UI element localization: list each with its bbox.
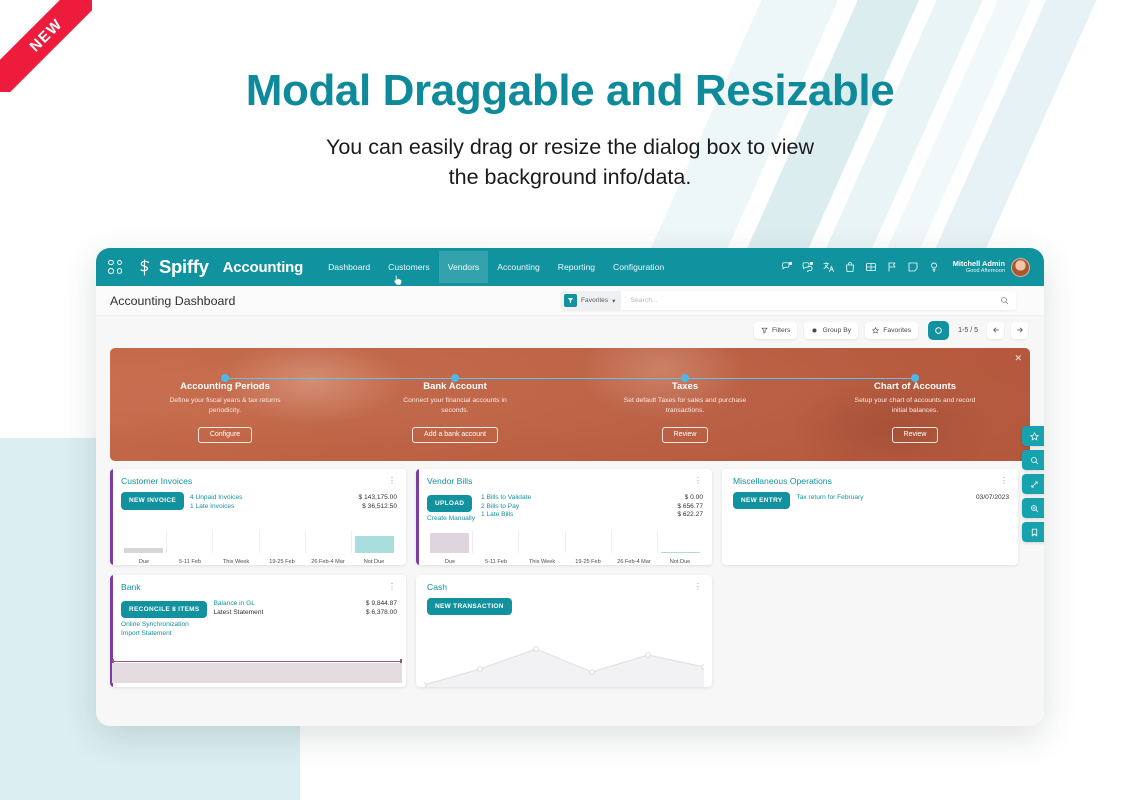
menu-item-reporting[interactable]: Reporting [549, 251, 604, 283]
stat-value: $ 6,378.00 [366, 609, 397, 616]
card-header: Bank ⋮ [110, 575, 406, 592]
main-menu: Dashboard Customers Vendors Accounting R… [319, 251, 673, 283]
menu-item-vendors[interactable]: Vendors [439, 251, 489, 283]
stat-row: 1 Bills to Validate $ 0.00 [481, 494, 703, 501]
brand[interactable]: Spiffy [135, 256, 209, 278]
arrow-left-icon [992, 326, 1000, 334]
create-manually-link[interactable]: Create Manually [427, 515, 475, 522]
app-name: Accounting [223, 259, 304, 276]
step-description: Define your fiscal years & tax returns p… [160, 396, 290, 415]
pager-label: 1-5 / 5 [958, 327, 978, 334]
card-vendor-bills: Vendor Bills ⋮ UPLOAD Create Manually 1 … [416, 469, 712, 565]
customer-invoices-chart: Due 5-11 Feb This Week 19-25 Feb 26 Feb-… [121, 531, 397, 565]
card-menu-button[interactable]: ⋮ [694, 583, 703, 591]
x-label: This Week [213, 559, 259, 565]
card-title: Cash [427, 582, 447, 592]
upload-button[interactable]: UPLOAD [427, 495, 472, 512]
card-bank: Bank ⋮ RECONCILE 8 ITEMS Online Synchron… [110, 575, 406, 687]
x-label: 26 Feb-4 Mar [305, 559, 351, 565]
user-greeting: Good Afternoon [953, 268, 1005, 274]
stat-value: $ 622.27 [677, 511, 703, 518]
x-label: Not Due [657, 559, 703, 565]
step-title: Accounting Periods [110, 381, 340, 392]
cash-trend-chart [424, 635, 704, 687]
rail-expand-button[interactable] [1022, 474, 1044, 494]
kanban-view-icon [934, 326, 943, 335]
right-rail [1022, 426, 1044, 542]
shopping-bag-icon[interactable] [844, 261, 856, 273]
step-title: Taxes [570, 381, 800, 392]
onboarding-step-chart-of-accounts: Chart of Accounts Setup your chart of ac… [800, 348, 1030, 461]
stat-row: Tax return for February 03/07/2023 [796, 494, 1009, 501]
new-entry-button[interactable]: NEW ENTRY [733, 492, 790, 509]
favorites-chip[interactable]: Favorites ▾ [561, 291, 621, 310]
rail-search-button[interactable] [1022, 450, 1044, 470]
brand-name: Spiffy [159, 256, 209, 278]
user-name: Mitchell Admin [953, 260, 1005, 269]
x-label: Not Due [351, 559, 397, 565]
favorites-button[interactable]: Favorites [865, 322, 918, 339]
card-body: RECONCILE 8 ITEMS Online Synchronization… [110, 592, 406, 637]
rail-bookmark-button[interactable] [1022, 522, 1044, 542]
x-label: 19-25 Feb [259, 559, 305, 565]
card-stats: 1 Bills to Validate $ 0.00 2 Bills to Pa… [481, 494, 703, 522]
step-action-button[interactable]: Configure [198, 427, 252, 443]
rail-zoom-button[interactable] [1022, 498, 1044, 518]
favorites-chip-label: Favorites [581, 297, 608, 304]
page-subtitle-line1: You can easily drag or resize the dialog… [0, 132, 1140, 162]
card-title: Miscellaneous Operations [733, 476, 832, 486]
card-header: Vendor Bills ⋮ [416, 469, 712, 486]
mouse-cursor-icon [392, 274, 403, 288]
stat-row: 2 Bills to Pay $ 656.77 [481, 503, 703, 510]
star-icon [872, 327, 879, 334]
filter-bar: Filters Group By Favorites 1-5 / 5 [96, 316, 1044, 344]
favorites-chip-caret: ▾ [612, 297, 615, 305]
stat-label[interactable]: Tax return for February [796, 494, 863, 501]
chart-x-labels: Due 5-11 Feb This Week 19-25 Feb 26 Feb-… [121, 559, 397, 565]
chart-x-labels: Due 5-11 Feb This Week 19-25 Feb 26 Feb-… [427, 559, 703, 565]
card-title: Bank [121, 582, 141, 592]
onboarding-steps: Accounting Periods Define your fiscal ye… [110, 348, 1030, 461]
x-label: Due [121, 559, 167, 565]
chart-bars [121, 531, 397, 553]
card-actions: RECONCILE 8 ITEMS Online Synchronization… [121, 598, 207, 637]
card-accent-bar [110, 469, 113, 565]
rail-favorite-button[interactable] [1022, 426, 1044, 446]
navbar-actions: Mitchell Admin Good Afternoon [781, 258, 1034, 277]
stat-row: 1 Late Invoices $ 36,512.50 [190, 503, 397, 510]
card-links: Online Synchronization Import Statement [121, 621, 207, 637]
stat-row: Balance in GL $ 9,844.87 [213, 600, 397, 607]
x-label: 19-25 Feb [565, 559, 611, 565]
page-subtitle-line2: the background info/data. [0, 162, 1140, 192]
step-description: Setup your chart of accounts and record … [850, 396, 980, 415]
stat-value: $ 0.00 [685, 494, 703, 501]
arrow-right-icon [1016, 326, 1024, 334]
card-actions: UPLOAD Create Manually [427, 492, 475, 522]
step-action-button[interactable]: Review [662, 427, 709, 443]
filters-button[interactable]: Filters [754, 322, 798, 339]
top-navbar: Spiffy Accounting Dashboard Customers Ve… [96, 248, 1044, 286]
stat-row: 1 Late Bills $ 622.27 [481, 511, 703, 518]
translate-icon[interactable] [823, 261, 835, 273]
avatar[interactable] [1011, 258, 1030, 277]
new-ribbon-label: NEW [26, 15, 66, 55]
step-description: Connect your financial accounts in secon… [390, 396, 520, 415]
x-label: 5-11 Feb [167, 559, 213, 565]
chart-bars [427, 531, 703, 553]
stat-label[interactable]: 2 Bills to Pay [481, 503, 519, 510]
card-body: NEW TRANSACTION [416, 592, 712, 615]
card-header: Customer Invoices ⋮ [110, 469, 406, 486]
card-stats: Tax return for February 03/07/2023 [796, 494, 1009, 509]
step-connector [225, 378, 455, 380]
card-stats: Balance in GL $ 9,844.87 Latest Statemen… [213, 600, 397, 637]
card-menu-button[interactable]: ⋮ [1000, 477, 1009, 485]
grid-app-icon[interactable] [865, 261, 877, 273]
stat-label[interactable]: 1 Late Bills [481, 511, 513, 518]
card-menu-button[interactable]: ⋮ [388, 477, 397, 485]
bookmark-icon [1030, 528, 1039, 537]
cash-area-svg [424, 635, 704, 687]
user-menu[interactable]: Mitchell Admin Good Afternoon [953, 258, 1030, 277]
card-stats: 4 Unpaid Invoices $ 143,175.00 1 Late In… [190, 494, 397, 510]
card-links: Create Manually [427, 515, 475, 522]
stat-label[interactable]: 4 Unpaid Invoices [190, 494, 242, 501]
reconcile-button[interactable]: RECONCILE 8 ITEMS [121, 601, 207, 618]
menu-item-configuration[interactable]: Configuration [604, 251, 673, 283]
x-label: 26 Feb-4 Mar [611, 559, 657, 565]
onboarding-step-bank-account: Bank Account Connect your financial acco… [340, 348, 570, 461]
stat-value: $ 9,844.87 [366, 600, 397, 607]
messages-icon[interactable] [781, 261, 793, 273]
stat-label[interactable]: 1 Late Invoices [190, 503, 234, 510]
groupby-button-label: Group By [822, 327, 851, 334]
chart-bar [112, 663, 402, 683]
groupby-button[interactable]: Group By [804, 322, 858, 339]
kanban-view-button[interactable] [928, 321, 949, 340]
card-accent-bar [416, 469, 419, 565]
stat-label: Latest Statement [213, 609, 263, 616]
menu-item-customers[interactable]: Customers [379, 251, 439, 283]
step-description: Set default Taxes for sales and purchase… [620, 396, 750, 415]
x-label: Due [427, 559, 473, 565]
banner-close-button[interactable]: ✕ [1014, 353, 1022, 364]
new-transaction-button[interactable]: NEW TRANSACTION [427, 598, 512, 615]
zoom-icon [1030, 504, 1039, 513]
new-ribbon: NEW [0, 0, 92, 92]
groupby-icon [811, 327, 818, 334]
search-bar[interactable]: Favorites ▾ Search... [561, 291, 1016, 310]
card-header: Cash ⋮ [416, 575, 712, 592]
new-invoice-button[interactable]: NEW INVOICE [121, 492, 184, 510]
page-subtitle: You can easily drag or resize the dialog… [0, 132, 1140, 192]
import-statement-link[interactable]: Import Statement [121, 630, 207, 637]
step-action-button[interactable]: Review [892, 427, 939, 443]
expand-icon [1030, 480, 1039, 489]
spiffy-logo-icon [135, 258, 154, 277]
card-title: Customer Invoices [121, 476, 192, 486]
app-window: Spiffy Accounting Dashboard Customers Ve… [96, 248, 1044, 726]
stat-label[interactable]: 1 Bills to Validate [481, 494, 531, 501]
prev-page-button[interactable] [987, 322, 1004, 339]
stat-value: $ 143,175.00 [358, 494, 397, 501]
search-icon [1030, 456, 1039, 465]
vendor-bills-chart: Due 5-11 Feb This Week 19-25 Feb 26 Feb-… [427, 531, 703, 565]
card-miscellaneous-operations: Miscellaneous Operations ⋮ NEW ENTRY Tax… [722, 469, 1018, 565]
x-label: This Week [519, 559, 565, 565]
card-menu-button[interactable]: ⋮ [694, 477, 703, 485]
search-icon[interactable] [1000, 296, 1009, 305]
chat-icon[interactable] [802, 261, 814, 273]
stat-value: $ 36,512.50 [362, 503, 397, 510]
control-bar: Accounting Dashboard Favorites ▾ Search.… [96, 286, 1044, 316]
favorites-button-label: Favorites [883, 327, 911, 334]
card-menu-button[interactable]: ⋮ [388, 583, 397, 591]
page-title: Modal Draggable and Resizable [0, 66, 1140, 116]
note-icon[interactable] [907, 261, 919, 273]
step-connector [685, 378, 915, 380]
stat-value: 03/07/2023 [976, 494, 1009, 501]
onboarding-step-accounting-periods: Accounting Periods Define your fiscal ye… [110, 348, 340, 461]
onboarding-banner: ✕ Accounting Periods Define your fiscal … [110, 348, 1030, 461]
filters-button-label: Filters [772, 327, 791, 334]
x-label: 5-11 Feb [473, 559, 519, 565]
stat-label[interactable]: Balance in GL [213, 600, 254, 607]
card-customer-invoices: Customer Invoices ⋮ NEW INVOICE 4 Unpaid… [110, 469, 406, 565]
card-body: NEW INVOICE 4 Unpaid Invoices $ 143,175.… [110, 486, 406, 510]
onboarding-step-taxes: Taxes Set default Taxes for sales and pu… [570, 348, 800, 461]
bank-balance-chart [110, 661, 406, 687]
flag-icon[interactable] [886, 261, 898, 273]
breadcrumb: Accounting Dashboard [110, 294, 235, 308]
stat-row: 4 Unpaid Invoices $ 143,175.00 [190, 494, 397, 501]
stat-value: $ 656.77 [677, 503, 703, 510]
step-title: Chart of Accounts [800, 381, 1030, 392]
filter-icon [761, 327, 768, 334]
online-synchronization-link[interactable]: Online Synchronization [121, 621, 207, 628]
dashboard-cards: Customer Invoices ⋮ NEW INVOICE 4 Unpaid… [96, 461, 1044, 687]
card-title: Vendor Bills [427, 476, 472, 486]
page-root: NEW Modal Draggable and Resizable You ca… [0, 0, 1140, 800]
step-dot-icon [221, 374, 229, 382]
chart-axis [112, 661, 402, 662]
search-input[interactable]: Search... [621, 297, 1000, 304]
card-cash: Cash ⋮ NEW TRANSACTION [416, 575, 712, 687]
step-dot-icon [911, 374, 919, 382]
tips-bulb-icon[interactable] [928, 261, 940, 273]
step-title: Bank Account [340, 381, 570, 392]
step-dot-icon [681, 374, 689, 382]
apps-grid-icon[interactable] [108, 260, 123, 275]
star-icon [1030, 432, 1039, 441]
step-dot-icon [451, 374, 459, 382]
card-body: NEW ENTRY Tax return for February 03/07/… [722, 486, 1018, 509]
menu-item-dashboard[interactable]: Dashboard [319, 251, 379, 283]
card-body: UPLOAD Create Manually 1 Bills to Valida… [416, 486, 712, 522]
user-meta: Mitchell Admin Good Afternoon [953, 260, 1005, 275]
stat-row: Latest Statement $ 6,378.00 [213, 609, 397, 616]
filter-funnel-icon [564, 294, 577, 307]
next-page-button[interactable] [1011, 322, 1028, 339]
menu-item-accounting[interactable]: Accounting [488, 251, 549, 283]
step-action-button[interactable]: Add a bank account [412, 427, 498, 443]
step-connector [455, 378, 685, 380]
card-header: Miscellaneous Operations ⋮ [722, 469, 1018, 486]
